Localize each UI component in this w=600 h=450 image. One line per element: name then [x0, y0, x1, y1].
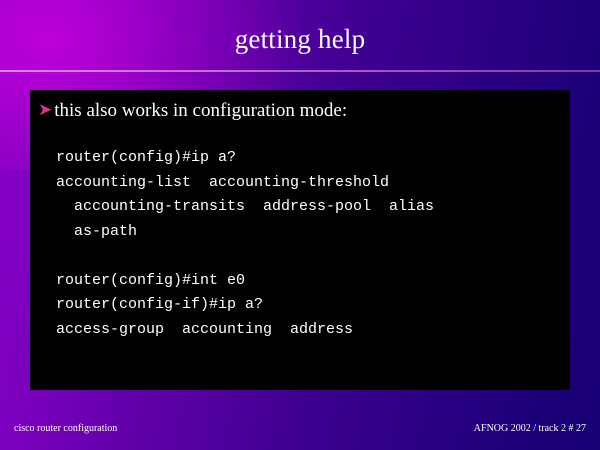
footer-right-label: AFNOG 2002 / track 2 # 27 — [474, 423, 586, 434]
content-box: ➤this also works in configuration mode: … — [30, 90, 570, 390]
page-title: getting help — [0, 24, 600, 55]
bullet-item: ➤this also works in configuration mode: — [38, 100, 558, 122]
arrow-bullet-icon: ➤ — [38, 100, 52, 119]
footer-left-label: cisco router configuration — [14, 423, 117, 434]
code-block: router(config)#ip a? accounting-list acc… — [56, 146, 434, 342]
slide: getting help ➤this also works in configu… — [0, 0, 600, 450]
title-divider — [0, 70, 600, 72]
bullet-item-label: this also works in configuration mode: — [54, 100, 347, 121]
